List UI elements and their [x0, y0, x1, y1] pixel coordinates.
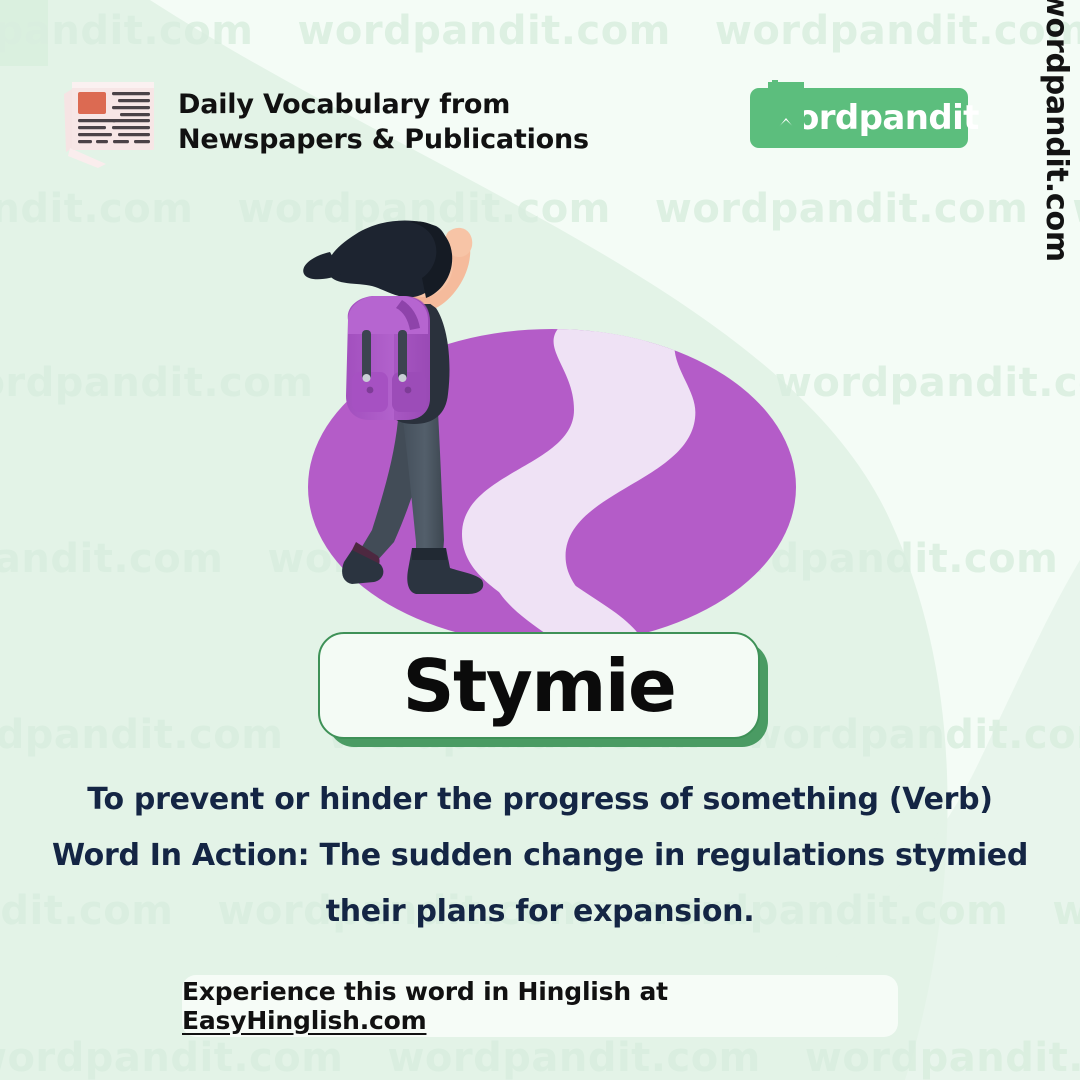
vocabulary-word: Stymie: [403, 650, 676, 722]
header-title-line2: Newspapers & Publications: [178, 123, 589, 158]
hinglish-banner-text: Experience this word in Hinglish at Easy…: [182, 977, 898, 1035]
word-card: Stymie: [318, 632, 768, 747]
logo-text: ordpandit: [796, 98, 979, 138]
illustration: [290, 212, 810, 652]
newspaper-icon: [56, 72, 164, 168]
wordpandit-logo[interactable]: ordpandit: [750, 88, 968, 148]
vertical-site-watermark: wordpandit.com: [1039, 0, 1074, 262]
hinglish-banner-prefix: Experience this word in Hinglish at: [182, 977, 668, 1006]
word-card-body: Stymie: [318, 632, 760, 739]
definition-line-3: their plans for expansion.: [0, 884, 1080, 940]
definition-block: To prevent or hinder the progress of som…: [0, 772, 1080, 940]
header: Daily Vocabulary from Newspapers & Publi…: [56, 72, 589, 168]
header-title-line1: Daily Vocabulary from: [178, 88, 589, 123]
page-title: Daily Vocabulary from Newspapers & Publi…: [178, 88, 589, 157]
hinglish-banner[interactable]: Experience this word in Hinglish at Easy…: [182, 975, 898, 1037]
definition-line-1: To prevent or hinder the progress of som…: [0, 772, 1080, 828]
bookmark-icon: [764, 80, 808, 136]
vocabulary-card-page: wordpandit.comwordpandit.comwordpandit.c…: [0, 0, 1080, 1080]
easyhinglish-link[interactable]: EasyHinglish.com: [182, 1006, 426, 1035]
definition-line-2: Word In Action: The sudden change in reg…: [0, 828, 1080, 884]
